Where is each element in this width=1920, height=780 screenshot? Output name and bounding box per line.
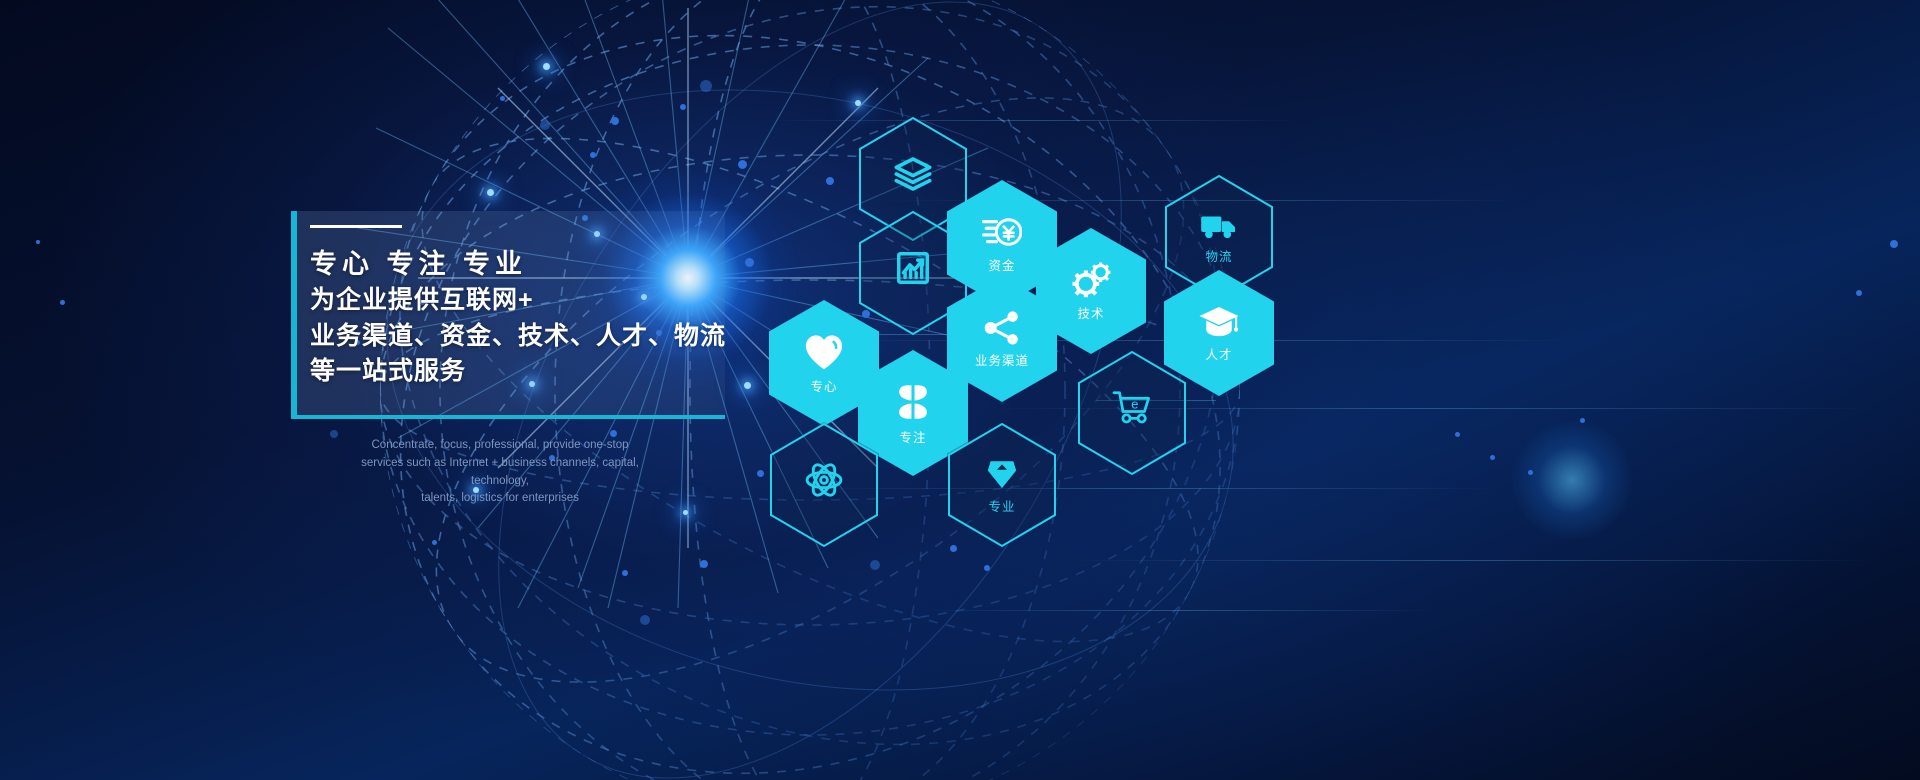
shopping-cart-e-icon: e bbox=[1111, 390, 1153, 431]
hexagon-professional[interactable]: 专业 bbox=[947, 422, 1057, 548]
clover-icon bbox=[893, 382, 933, 427]
layers-icon bbox=[893, 154, 933, 199]
subtitle-block: Concentrate, focus, professional, provid… bbox=[340, 437, 660, 508]
page-title: 专心 专注 专业 为企业提供互联网+ 业务渠道、资金、技术、人才、物流 等一站式… bbox=[310, 245, 740, 390]
bar-chart-up-icon bbox=[894, 249, 932, 292]
headline-block: 专心 专注 专业 为企业提供互联网+ 业务渠道、资金、技术、人才、物流 等一站式… bbox=[310, 225, 740, 390]
hexagon-ecommerce[interactable]: e bbox=[1077, 350, 1187, 476]
hero-banner: 专心 专注 专业 为企业提供互联网+ 业务渠道、资金、技术、人才、物流 等一站式… bbox=[0, 0, 1920, 780]
title-rule bbox=[310, 225, 402, 228]
hexagon-label: 资金 bbox=[988, 260, 1015, 273]
headline-line-2: 为企业提供互联网+ bbox=[310, 283, 740, 319]
hexagon-atom[interactable] bbox=[769, 422, 879, 548]
diamond-icon bbox=[985, 457, 1019, 496]
gears-icon bbox=[1071, 262, 1111, 303]
hexagon-label: 业务渠道 bbox=[975, 355, 1029, 368]
truck-icon bbox=[1200, 211, 1238, 246]
hexagon-label: 专心 bbox=[810, 381, 837, 394]
subtitle-line-2: services such as Internet + business cha… bbox=[340, 455, 660, 491]
headline-line-1: 专心 专注 专业 bbox=[310, 245, 740, 283]
headline-line-3: 业务渠道、资金、技术、人才、物流 bbox=[310, 319, 740, 355]
hexagon-label: 专业 bbox=[988, 501, 1015, 514]
svg-text:e: e bbox=[1131, 397, 1138, 412]
hexagon-label: 物流 bbox=[1205, 251, 1232, 264]
heart-icon bbox=[803, 333, 845, 376]
hexagon-label: 技术 bbox=[1077, 308, 1104, 321]
subtitle-line-1: Concentrate, focus, professional, provid… bbox=[340, 437, 660, 455]
subtitle-line-3: talents, logistics for enterprises bbox=[340, 490, 660, 508]
hexagon-cluster: 资金 bbox=[740, 100, 1300, 520]
atom-icon bbox=[803, 460, 845, 505]
right-glow bbox=[1512, 420, 1632, 540]
share-nodes-icon bbox=[983, 311, 1021, 350]
hexagon-label: 人才 bbox=[1205, 349, 1232, 362]
hexagon-label: 专注 bbox=[899, 432, 926, 445]
graduation-cap-icon bbox=[1198, 305, 1240, 344]
yuan-coin-icon bbox=[982, 214, 1022, 255]
headline-line-4: 等一站式服务 bbox=[310, 354, 740, 390]
